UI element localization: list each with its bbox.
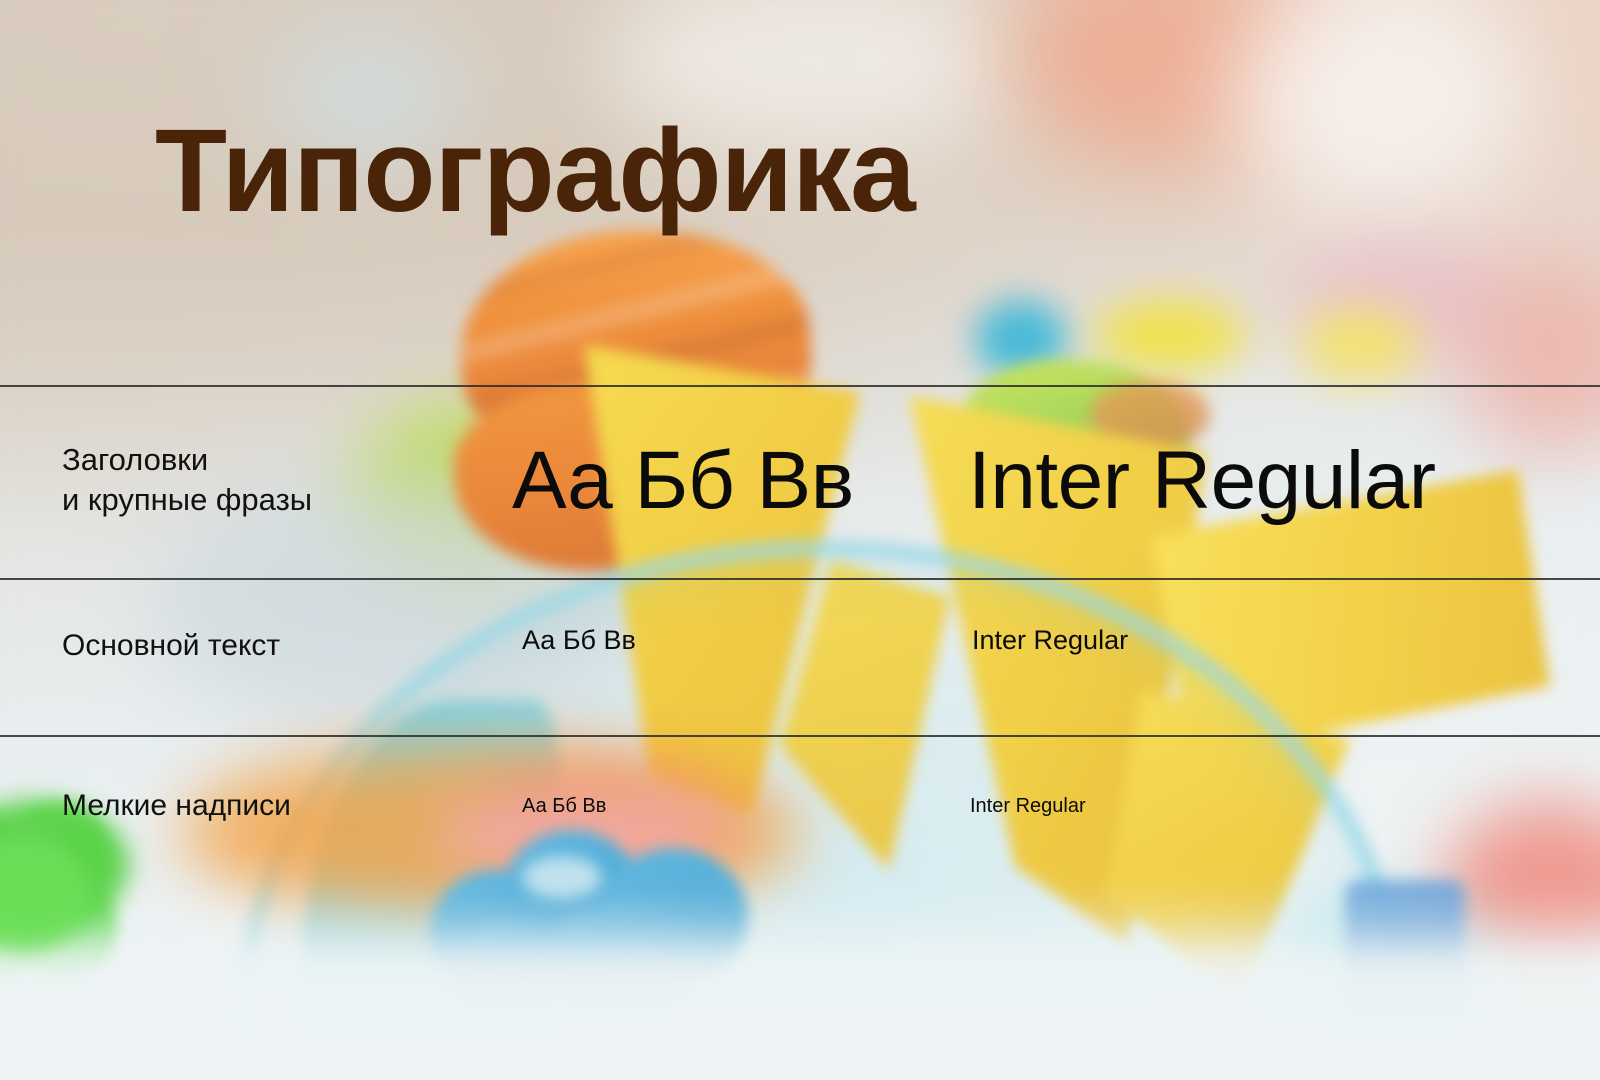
sample-cyrillic-captions: Аа Бб Вв bbox=[522, 795, 606, 818]
sample-latin-captions: Inter Regular bbox=[970, 795, 1086, 818]
row-divider-1 bbox=[0, 385, 1600, 387]
row-divider-2 bbox=[0, 578, 1600, 580]
slide-content: Типографика Заголовки и крупные фразы Аа… bbox=[0, 0, 1600, 1080]
page-title: Типографика bbox=[155, 112, 915, 230]
row-divider-3 bbox=[0, 735, 1600, 737]
sample-cyrillic-body: Аа Бб Вв bbox=[522, 625, 636, 656]
row-label-headings: Заголовки и крупные фразы bbox=[62, 440, 312, 519]
sample-cyrillic-headings: Аа Бб Вв bbox=[512, 434, 854, 528]
row-label-captions: Мелкие надписи bbox=[62, 787, 291, 825]
sample-latin-headings: Inter Regular bbox=[968, 434, 1436, 528]
sample-latin-body: Inter Regular bbox=[972, 625, 1128, 656]
typography-slide: Типографика Заголовки и крупные фразы Аа… bbox=[0, 0, 1600, 1080]
row-label-body: Основной текст bbox=[62, 627, 280, 665]
